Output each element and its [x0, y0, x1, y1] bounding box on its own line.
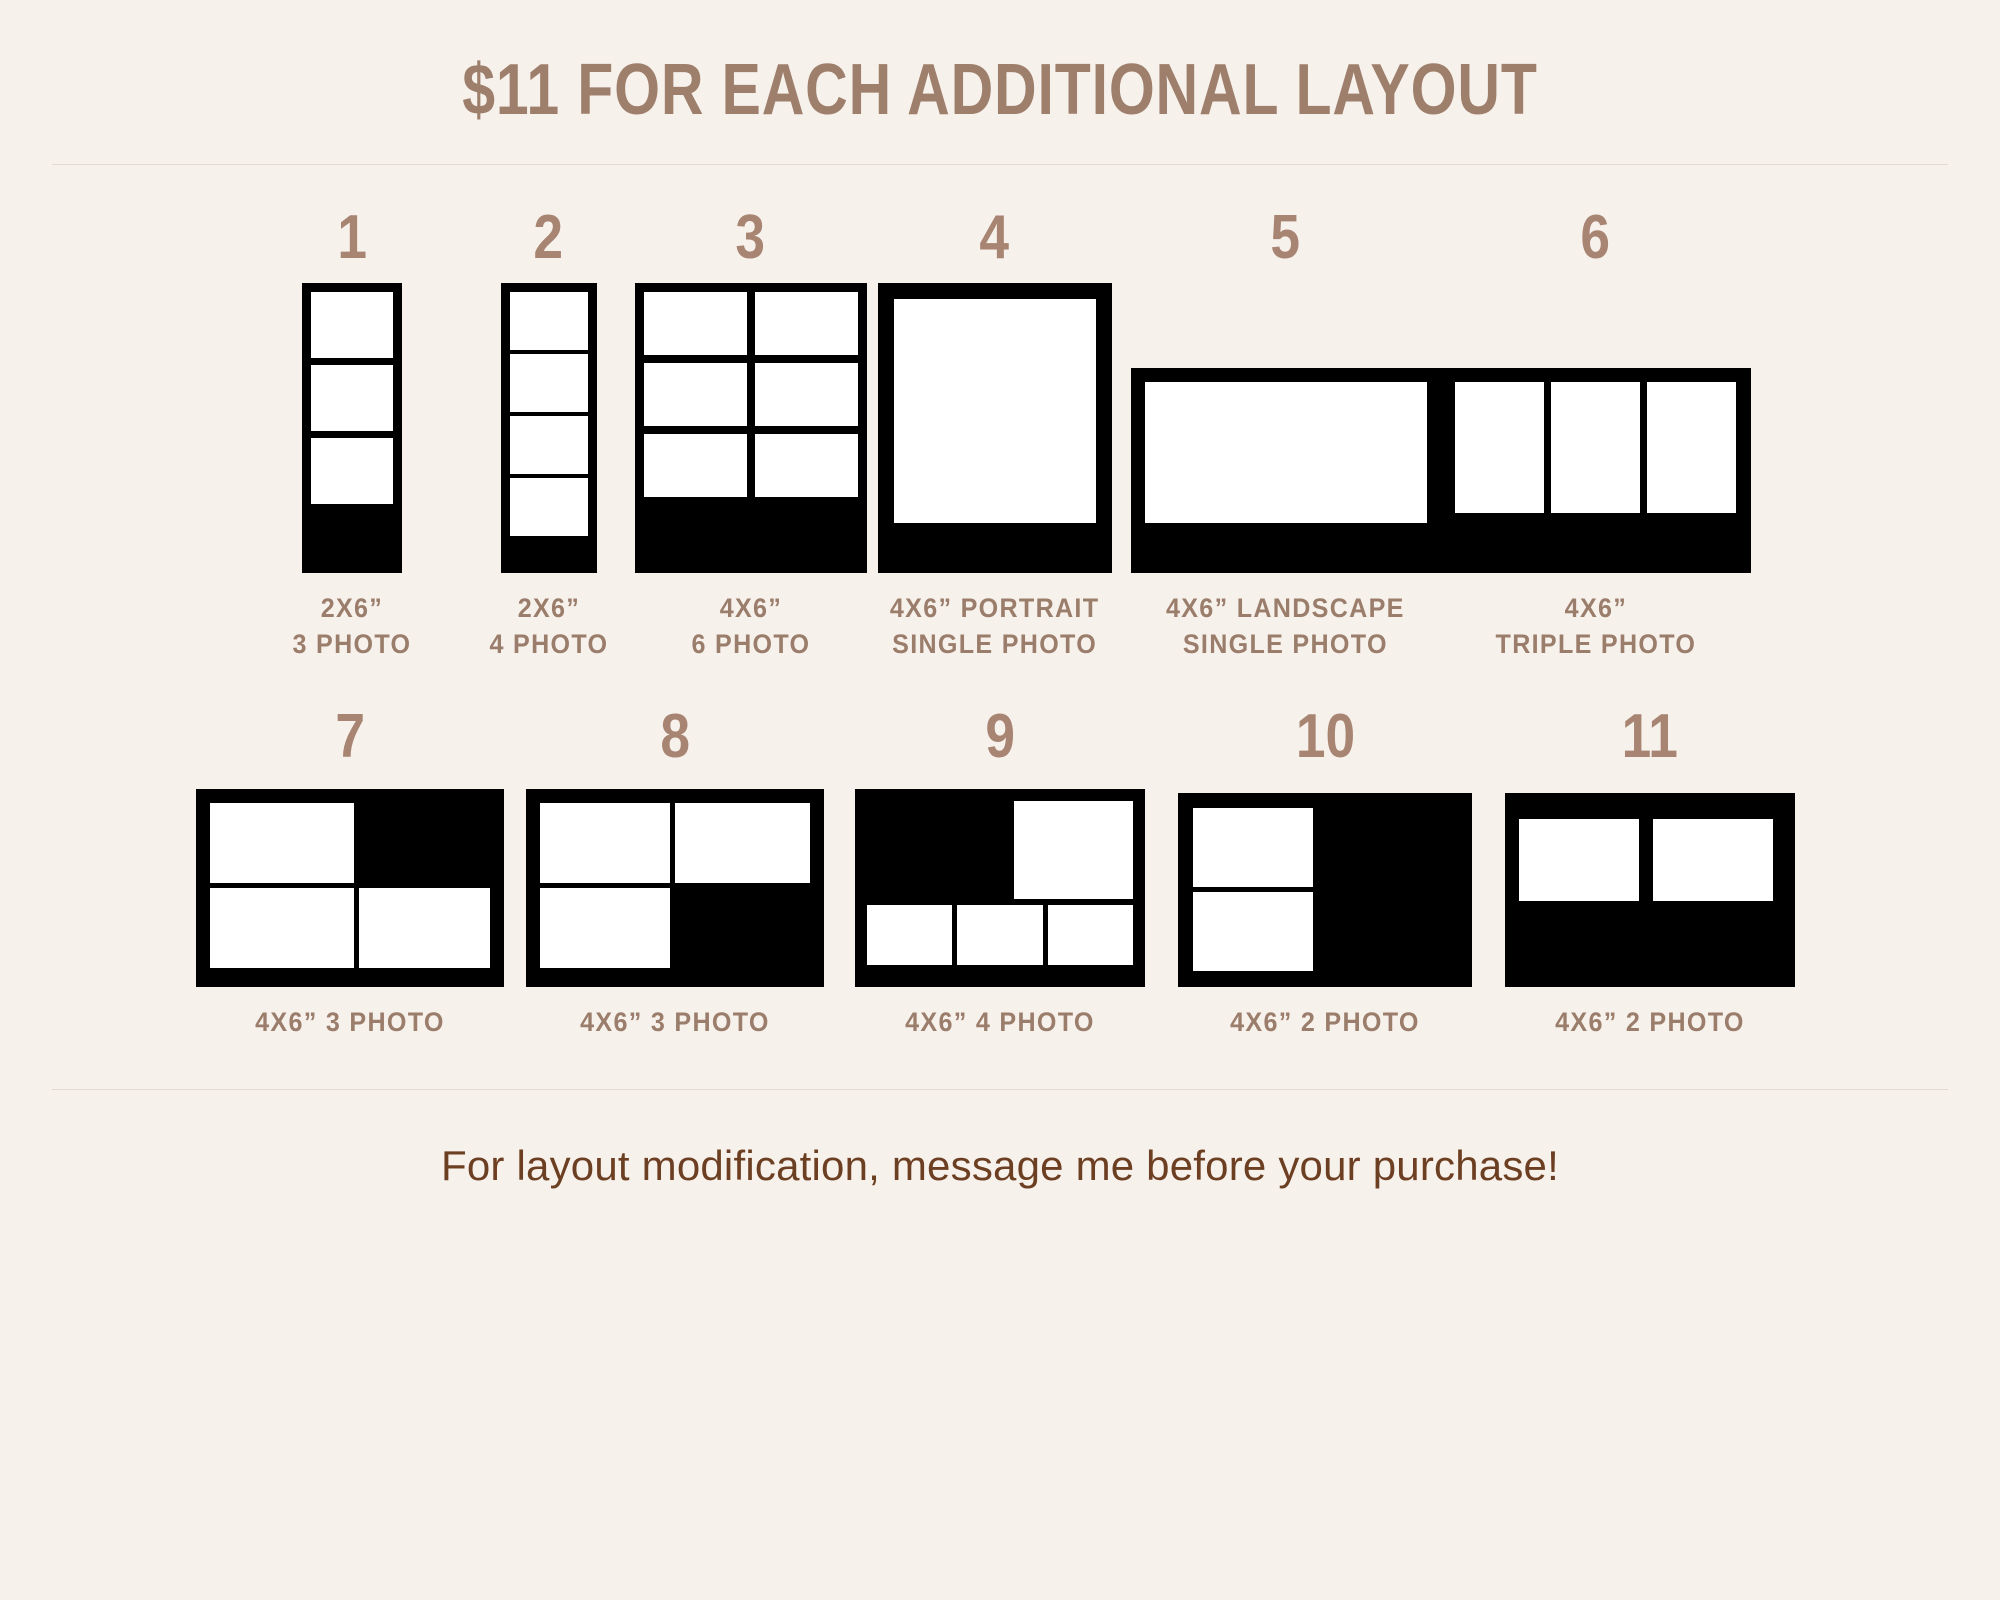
- photo-slot: [359, 888, 490, 968]
- gutter: [311, 431, 393, 438]
- photo-slot: [1551, 382, 1640, 513]
- layout-card-4[interactable]: 4 4X6” PORTRAIT SINGLE PHOTO: [859, 207, 1131, 662]
- layout-caption-2: 2X6” 4 PHOTO: [489, 591, 608, 662]
- layout-caption-3: 4X6” 6 PHOTO: [691, 591, 810, 662]
- photo-slot: [1193, 808, 1313, 887]
- layout-row-1: 1 2X6” 3 PHOTO 2: [0, 207, 2000, 662]
- layout-number-3: 3: [736, 207, 766, 269]
- layout-preview-7: [196, 789, 504, 987]
- photo-slot: [540, 803, 670, 883]
- layout-caption-1: 2X6” 3 PHOTO: [293, 591, 412, 662]
- layout-preview-8: [526, 789, 824, 987]
- photo-row: [867, 905, 1133, 965]
- photo-slot: [510, 416, 588, 474]
- layout-number-11: 11: [1622, 706, 1678, 768]
- layout-preview-5: [1131, 368, 1441, 573]
- layout-preview-10: [1178, 793, 1472, 987]
- photo-row: [644, 363, 858, 426]
- photo-slot: [1455, 382, 1544, 513]
- empty-slot: [359, 803, 490, 883]
- photo-slot: [1145, 382, 1427, 523]
- layout-caption-5: 4X6” LANDSCAPE SINGLE PHOTO: [1166, 591, 1405, 662]
- photo-row: [540, 888, 810, 968]
- layout-caption-6: 4X6” TRIPLE PHOTO: [1495, 591, 1696, 662]
- photo-column: [1193, 808, 1313, 972]
- layout-preview-4: [878, 283, 1112, 573]
- gutter: [311, 358, 393, 365]
- layout-caption-11: 4X6” 2 PHOTO: [1555, 1005, 1745, 1041]
- photo-slot: [311, 365, 393, 431]
- photo-slot: [894, 299, 1096, 523]
- layout-number-5: 5: [1271, 207, 1301, 269]
- photo-row: [540, 803, 810, 883]
- photo-slot: [755, 434, 858, 497]
- footer-note-container: For layout modification, message me befo…: [0, 1142, 2000, 1190]
- layout-preview-3: [635, 283, 867, 573]
- layout-number-2: 2: [534, 207, 564, 269]
- photo-slot: [957, 905, 1042, 965]
- layout-caption-7: 4X6” 3 PHOTO: [255, 1005, 445, 1041]
- layout-preview-9: [855, 789, 1145, 987]
- photo-slot: [1519, 819, 1639, 901]
- photo-slot: [540, 888, 670, 968]
- photo-slot: [311, 292, 393, 358]
- layout-card-5[interactable]: 5 4X6” LANDSCAPE SINGLE PHOTO: [1131, 207, 1441, 662]
- layout-card-2[interactable]: 2 2X6” 4 PHOTO: [455, 207, 643, 662]
- layout-card-1[interactable]: 1 2X6” 3 PHOTO: [250, 207, 455, 662]
- layout-card-11[interactable]: 11 4X6” 2 PHOTO: [1488, 706, 1813, 1041]
- photo-slot: [755, 292, 858, 355]
- empty-slot: [675, 888, 810, 968]
- gutter: [644, 426, 858, 434]
- layout-number-9: 9: [985, 706, 1015, 768]
- photo-row: [867, 801, 1133, 899]
- photo-slot: [644, 434, 747, 497]
- layout-card-8[interactable]: 8 4X6” 3 PHOTO: [513, 706, 838, 1041]
- photo-slot: [675, 803, 810, 883]
- photo-slot: [210, 888, 354, 968]
- footer-note: For layout modification, message me befo…: [0, 1142, 2000, 1190]
- photo-slot: [1647, 382, 1736, 513]
- layout-price-sheet: $11 FOR EACH ADDITIONAL LAYOUT 1 2X6” 3 …: [0, 0, 2000, 1600]
- photo-row: [210, 803, 490, 883]
- photo-slot: [311, 438, 393, 504]
- layout-card-10[interactable]: 10 4X6” 2 PHOTO: [1163, 706, 1488, 1041]
- layout-number-8: 8: [660, 706, 690, 768]
- photo-slot: [644, 292, 747, 355]
- photo-slot: [510, 292, 588, 350]
- photo-slot: [867, 905, 952, 965]
- layout-row-2: 7 4X6” 3 PHOTO 8: [0, 706, 2000, 1041]
- photo-slot: [1193, 892, 1313, 971]
- photo-row: [644, 292, 858, 355]
- layout-card-6[interactable]: 6 4X6” TRIPLE PHOTO: [1441, 207, 1751, 662]
- page-title: $11 FOR EACH ADDITIONAL LAYOUT: [180, 54, 1820, 126]
- layout-caption-9: 4X6” 4 PHOTO: [905, 1005, 1095, 1041]
- layout-preview-11: [1505, 793, 1795, 987]
- photo-slot: [755, 363, 858, 426]
- layout-caption-4: 4X6” PORTRAIT SINGLE PHOTO: [890, 591, 1099, 662]
- divider-bottom: [52, 1089, 1948, 1090]
- layout-number-6: 6: [1581, 207, 1611, 269]
- layout-number-10: 10: [1295, 706, 1354, 768]
- photo-row: [644, 434, 858, 497]
- layout-preview-2: [501, 283, 597, 573]
- photo-slot: [1014, 801, 1133, 899]
- layout-number-7: 7: [335, 706, 365, 768]
- layout-card-7[interactable]: 7 4X6” 3 PHOTO: [188, 706, 513, 1041]
- layout-caption-10: 4X6” 2 PHOTO: [1230, 1005, 1420, 1041]
- empty-slot: [867, 801, 1008, 899]
- photo-slot: [510, 478, 588, 536]
- empty-slot: [1318, 808, 1457, 972]
- layout-preview-1: [302, 283, 402, 573]
- photo-row: [210, 888, 490, 968]
- page-title-container: $11 FOR EACH ADDITIONAL LAYOUT: [0, 0, 2000, 126]
- divider-top: [52, 164, 1948, 165]
- photo-slot: [210, 803, 354, 883]
- layout-number-4: 4: [980, 207, 1010, 269]
- layout-caption-8: 4X6” 3 PHOTO: [580, 1005, 770, 1041]
- layout-card-9[interactable]: 9 4X6” 4 PHOTO: [838, 706, 1163, 1041]
- photo-slot: [1653, 819, 1773, 901]
- layout-preview-6: [1441, 368, 1751, 573]
- layout-card-3[interactable]: 3: [643, 207, 859, 662]
- photo-slot: [644, 363, 747, 426]
- gutter: [644, 355, 858, 363]
- photo-slot: [1048, 905, 1133, 965]
- layout-number-1: 1: [337, 207, 367, 269]
- photo-slot: [510, 354, 588, 412]
